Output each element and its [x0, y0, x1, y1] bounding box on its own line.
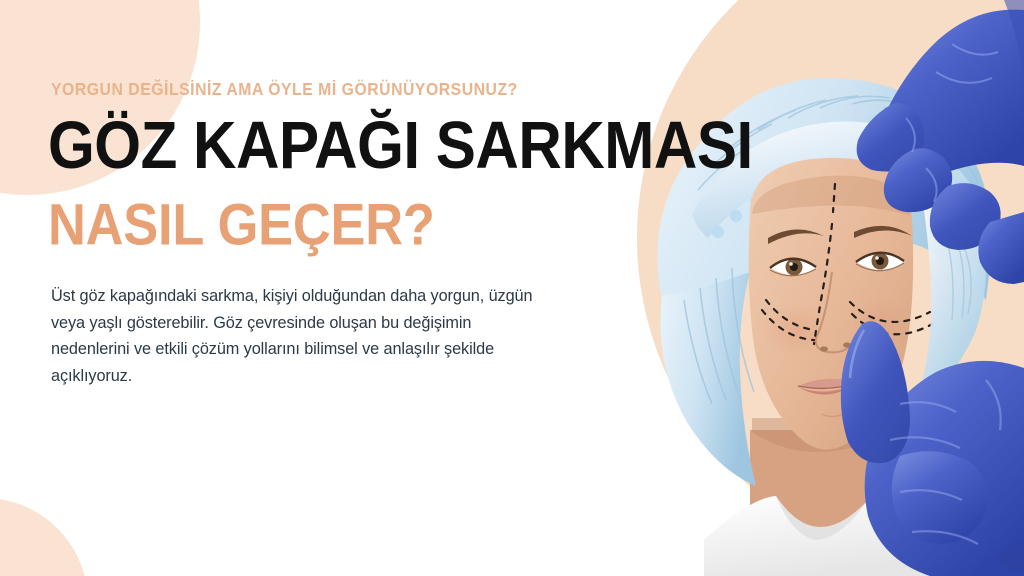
- nostril-left: [820, 346, 828, 351]
- hero-photo: [600, 0, 1024, 576]
- hero-photo-illustration: [600, 0, 1024, 576]
- headline-primary: GÖZ KAPAĞI SARKMASI: [48, 113, 753, 180]
- headline-accent: NASIL GEÇER?: [48, 196, 435, 254]
- text-column: YORGUN DEĞİLSİNİZ AMA ÖYLE Mİ GÖRÜNÜYORS…: [51, 0, 611, 576]
- promo-banner: YORGUN DEĞİLSİNİZ AMA ÖYLE Mİ GÖRÜNÜYORS…: [0, 0, 1024, 576]
- body-paragraph: Üst göz kapağındaki sarkma, kişiyi olduğ…: [51, 283, 546, 389]
- surgical-cap-drape: [660, 272, 756, 486]
- eyebrow-text: YORGUN DEĞİLSİNİZ AMA ÖYLE Mİ GÖRÜNÜYORS…: [51, 79, 518, 100]
